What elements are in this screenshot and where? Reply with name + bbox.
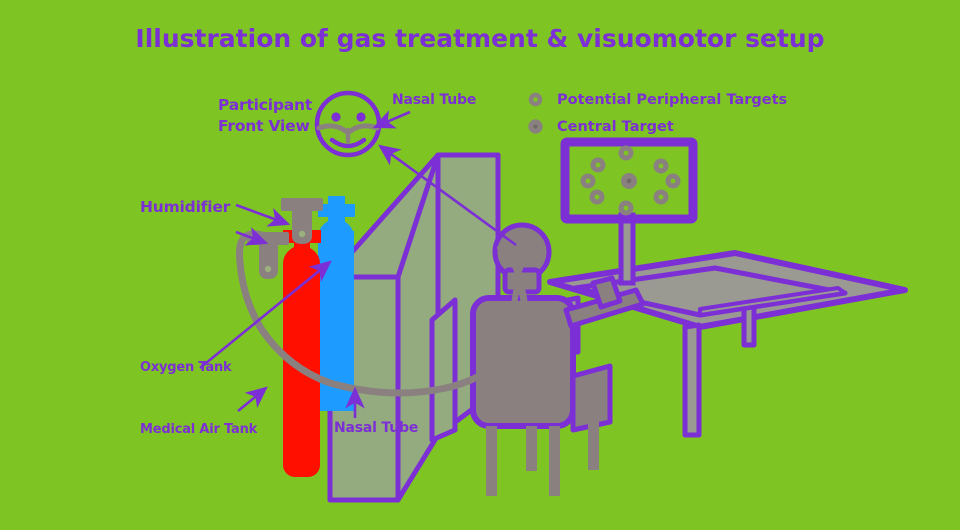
legend-label-central: Central Target: [557, 119, 674, 135]
ring-icon: [528, 92, 543, 107]
arrow-medical-air: [238, 388, 266, 411]
dot-in-circle-icon: [528, 119, 543, 134]
participant-seated: [473, 225, 643, 426]
legend: Potential Peripheral Targets Central Tar…: [528, 86, 787, 140]
monitor-stand: [621, 215, 633, 283]
legend-item-peripheral: Potential Peripheral Targets: [528, 86, 787, 113]
participant-face: [317, 93, 379, 155]
legend-item-central: Central Target: [528, 113, 787, 140]
central-target: [621, 173, 637, 189]
monitor-screen: [565, 142, 693, 219]
oxygen-tank: [283, 222, 321, 477]
legend-label-peripheral: Potential Peripheral Targets: [557, 92, 787, 108]
illustration-canvas: [0, 0, 960, 530]
arrow-humidifier-1: [236, 205, 288, 224]
